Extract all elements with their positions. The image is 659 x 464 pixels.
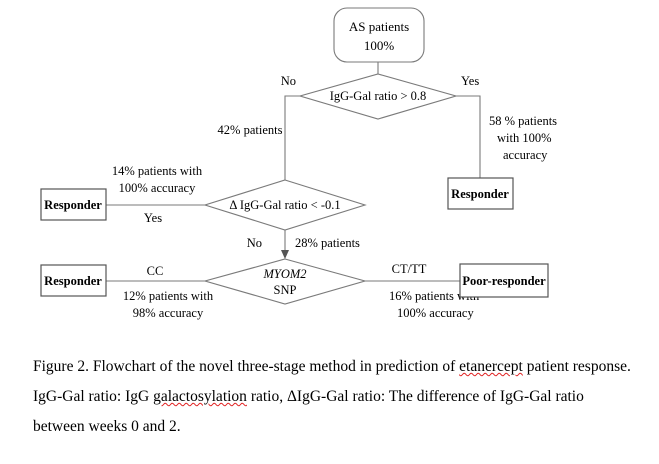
edge-detail-decision3-cttt-line2: 100% accuracy xyxy=(397,306,474,320)
caption-misspelled-galactosylation: galactosylation xyxy=(153,388,247,405)
edge-detail-decision1-yes-line2: with 100% xyxy=(497,131,552,145)
flowchart-diagram: AS patients 100% IgG-Gal ratio > 0.8 No … xyxy=(0,0,659,348)
decision-delta-igg-gal-ratio-label: Δ IgG-Gal ratio < -0.1 xyxy=(229,198,340,212)
edge-detail-decision2-yes-line2: 100% accuracy xyxy=(119,181,196,195)
node-responder-top-right-label: Responder xyxy=(451,187,509,201)
caption-misspelled-etanercept: etanercept xyxy=(459,358,523,375)
figure-caption: Figure 2. Flowchart of the novel three-s… xyxy=(33,352,633,442)
edge-label-decision3-cc: CC xyxy=(147,264,164,278)
connector-decision1-no xyxy=(285,96,300,180)
node-as-patients-box xyxy=(334,8,424,62)
edge-detail-decision2-no: 28% patients xyxy=(295,236,360,250)
decision-myom2-label: MYOM2 xyxy=(262,267,306,281)
edge-detail-decision3-cc-line1: 12% patients with xyxy=(123,289,214,303)
edge-label-decision2-no: No xyxy=(247,236,262,250)
edge-detail-decision1-no: 42% patients xyxy=(218,123,283,137)
edge-label-decision3-cttt: CT/TT xyxy=(392,262,427,276)
decision-myom2-snp-diamond xyxy=(205,259,365,304)
edge-detail-decision1-yes-line1: 58 % patients xyxy=(489,114,557,128)
node-as-patients-line1: AS patients xyxy=(349,19,409,34)
edge-detail-decision2-yes-line1: 14% patients with xyxy=(112,164,203,178)
edge-detail-decision1-yes-line3: accuracy xyxy=(503,148,548,162)
node-responder-bottom-left-label: Responder xyxy=(44,274,102,288)
arrowhead-down-icon xyxy=(281,250,289,259)
connector-decision1-yes xyxy=(456,96,480,178)
edge-detail-decision3-cc-line2: 98% accuracy xyxy=(133,306,204,320)
edge-label-decision2-yes: Yes xyxy=(144,211,162,225)
decision-igg-gal-ratio-label: IgG-Gal ratio > 0.8 xyxy=(330,89,427,103)
edge-label-decision1-yes: Yes xyxy=(461,74,479,88)
node-responder-mid-left-label: Responder xyxy=(44,198,102,212)
decision-snp-label: SNP xyxy=(274,283,297,297)
node-as-patients-line2: 100% xyxy=(364,38,395,53)
caption-part1: Figure 2. Flowchart of the novel three-s… xyxy=(33,358,459,375)
node-poor-responder-label: Poor-responder xyxy=(462,274,546,288)
edge-label-decision1-no: No xyxy=(281,74,296,88)
